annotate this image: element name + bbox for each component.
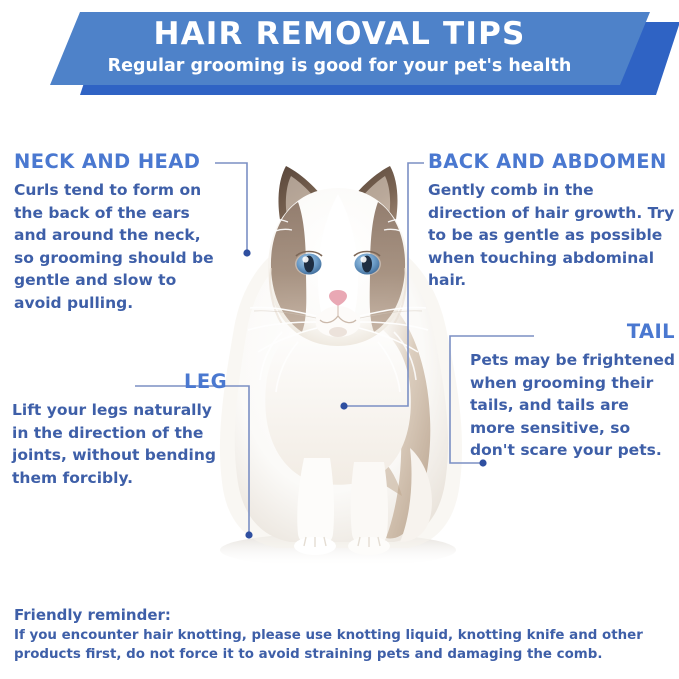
header-banner: HAIR REMOVAL TIPS Regular grooming is go… xyxy=(0,0,679,108)
callout-back-and-abdomen-body: Gently comb in the direction of hair gro… xyxy=(428,179,676,292)
callout-neck-and-head: NECK AND HEAD Curls tend to form on the … xyxy=(14,150,224,314)
banner-main-shape xyxy=(50,12,650,85)
callout-neck-and-head-body: Curls tend to form on the back of the ea… xyxy=(14,179,224,314)
callout-back-and-abdomen-title: BACK AND ABDOMEN xyxy=(428,150,676,173)
callout-tail: TAIL Pets may be frightened when groomin… xyxy=(470,320,675,462)
callout-leg: LEG Lift your legs naturally in the dire… xyxy=(12,370,227,489)
friendly-reminder-section: Friendly reminder: If you encounter hair… xyxy=(14,606,664,664)
callout-neck-and-head-title: NECK AND HEAD xyxy=(14,150,224,173)
callout-back-and-abdomen: BACK AND ABDOMEN Gently comb in the dire… xyxy=(428,150,676,292)
callout-leg-body: Lift your legs naturally in the directio… xyxy=(12,399,227,489)
callout-tail-body: Pets may be frightened when grooming the… xyxy=(470,349,675,462)
friendly-reminder-body: If you encounter hair knotting, please u… xyxy=(14,626,664,664)
callout-leg-title: LEG xyxy=(12,370,227,393)
friendly-reminder-title: Friendly reminder: xyxy=(14,606,664,624)
callout-tail-title: TAIL xyxy=(470,320,675,343)
infographic-page: HAIR REMOVAL TIPS Regular grooming is go… xyxy=(0,0,679,679)
